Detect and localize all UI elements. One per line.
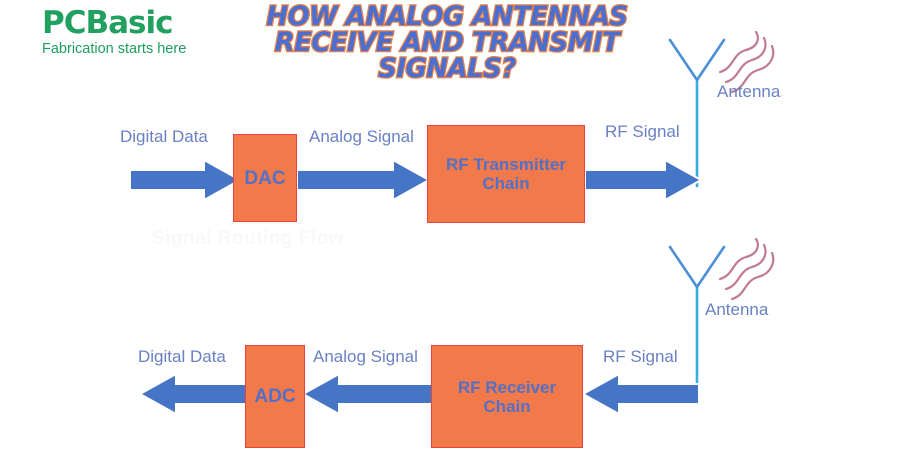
arrow-rx-analog-signal bbox=[303, 372, 435, 416]
label-antenna-receive: Antenna bbox=[705, 300, 768, 320]
block-dac-label: DAC bbox=[244, 169, 285, 188]
block-dac[interactable]: DAC bbox=[233, 134, 297, 222]
label-rx-rf-signal: RF Signal bbox=[603, 347, 678, 367]
label-rx-digital-data: Digital Data bbox=[138, 347, 226, 367]
label-tx-analog-signal: Analog Signal bbox=[309, 127, 414, 147]
rf-tx-line2: Chain bbox=[482, 174, 529, 193]
logo-wordmark: PCBasic bbox=[42, 6, 242, 40]
block-rf-receiver-chain[interactable]: RF Receiver Chain bbox=[431, 345, 583, 448]
arrow-rx-rf-signal bbox=[583, 372, 699, 416]
block-adc[interactable]: ADC bbox=[245, 345, 305, 448]
block-rf-transmitter-chain-label: RF Transmitter Chain bbox=[446, 155, 566, 193]
rf-rx-line1: RF Receiver bbox=[458, 378, 556, 397]
label-tx-rf-signal: RF Signal bbox=[605, 122, 680, 142]
watermark-text: Signal Routing Flow bbox=[152, 228, 344, 250]
arrow-tx-rf-signal bbox=[585, 158, 703, 202]
label-tx-digital-data: Digital Data bbox=[120, 127, 208, 147]
diagram-canvas: PCBasic Fabrication starts here HOW ANAL… bbox=[0, 0, 900, 450]
label-antenna-transmit: Antenna bbox=[717, 82, 780, 102]
rf-tx-line1: RF Transmitter bbox=[446, 155, 566, 174]
arrow-tx-digital-data bbox=[130, 158, 242, 202]
arrow-tx-analog-signal bbox=[297, 158, 431, 202]
block-rf-receiver-chain-label: RF Receiver Chain bbox=[458, 378, 556, 416]
block-adc-label: ADC bbox=[254, 387, 295, 406]
label-rx-analog-signal: Analog Signal bbox=[313, 347, 418, 367]
page-title: HOW ANALOG ANTENNAS RECEIVE AND TRANSMIT… bbox=[241, 4, 654, 82]
arrow-rx-digital-data bbox=[140, 372, 252, 416]
title-line-3: SIGNALS? bbox=[241, 56, 654, 82]
logo-tagline: Fabrication starts here bbox=[42, 41, 242, 57]
pcbasic-logo: PCBasic Fabrication starts here bbox=[42, 6, 242, 58]
block-rf-transmitter-chain[interactable]: RF Transmitter Chain bbox=[427, 125, 585, 223]
rf-rx-line2: Chain bbox=[483, 397, 530, 416]
